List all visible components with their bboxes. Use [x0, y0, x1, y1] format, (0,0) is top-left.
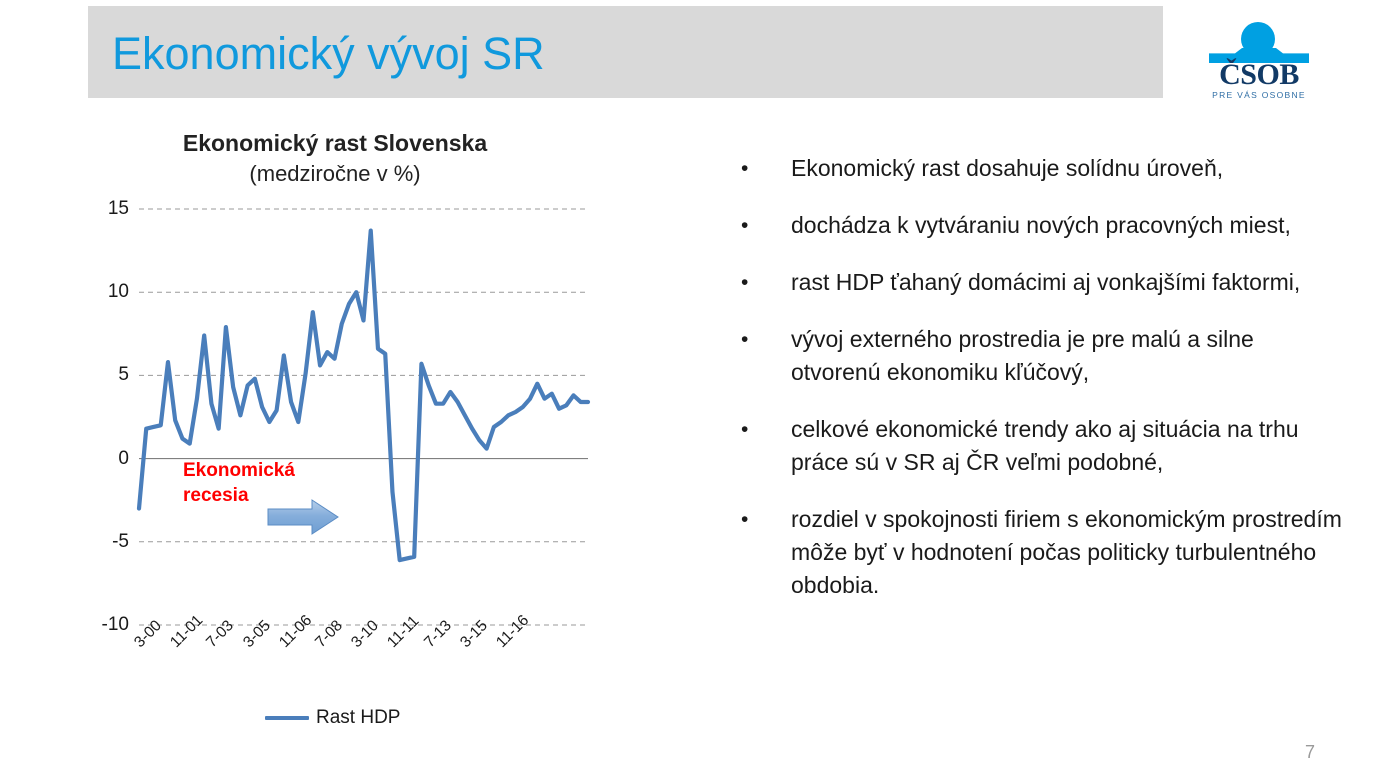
bullet-marker-icon: •	[737, 503, 791, 536]
csob-logo: ČSOB PRE VÁS OSOBNE	[1199, 22, 1319, 102]
bullet-text: dochádza k vytváraniu nových pracovných …	[791, 209, 1342, 242]
bullet-item: •dochádza k vytváraniu nových pracovných…	[737, 209, 1342, 242]
bullet-text: vývoj externého prostredia je pre malú a…	[791, 323, 1342, 389]
recession-annotation: Ekonomická recesia	[183, 458, 313, 508]
bullet-text: celkové ekonomické trendy ako aj situáci…	[791, 413, 1342, 479]
bullet-text: rozdiel v spokojnosti firiem s ekonomick…	[791, 503, 1342, 602]
slide: Ekonomický vývoj SR ČSOB PRE VÁS OSOBNE …	[0, 0, 1373, 775]
chart-legend: Rast HDP	[265, 708, 400, 727]
logo-tagline: PRE VÁS OSOBNE	[1203, 90, 1315, 100]
legend-swatch-rast-hdp	[265, 716, 309, 720]
y-tick--10: -10	[87, 615, 129, 634]
bullet-marker-icon: •	[737, 266, 791, 299]
y-tick-0: 0	[87, 449, 129, 468]
y-tick-10: 10	[87, 282, 129, 301]
bullet-item: •celkové ekonomické trendy ako aj situác…	[737, 413, 1342, 479]
bullet-item: •rozdiel v spokojnosti firiem s ekonomic…	[737, 503, 1342, 602]
legend-label-rast-hdp: Rast HDP	[316, 708, 400, 727]
bullet-marker-icon: •	[737, 323, 791, 356]
bullet-text: Ekonomický rast dosahuje solídnu úroveň,	[791, 152, 1342, 185]
y-tick--5: -5	[87, 532, 129, 551]
bullet-text: rast HDP ťahaný domácimi aj vonkajšími f…	[791, 266, 1342, 299]
y-tick-15: 15	[87, 199, 129, 218]
bullet-marker-icon: •	[737, 209, 791, 242]
bullet-marker-icon: •	[737, 413, 791, 446]
bullet-item: •Ekonomický rast dosahuje solídnu úroveň…	[737, 152, 1342, 185]
bullet-list: •Ekonomický rast dosahuje solídnu úroveň…	[737, 152, 1342, 626]
logo-wordmark: ČSOB	[1203, 60, 1315, 90]
gdp-growth-chart: Ekonomický rast Slovenska (medziročne v …	[70, 118, 670, 738]
chart-plot-area	[70, 118, 670, 678]
page-number: 7	[1305, 742, 1315, 763]
y-tick-5: 5	[87, 365, 129, 384]
chart-series-rast-hdp	[139, 231, 588, 560]
page-title: Ekonomický vývoj SR	[112, 26, 545, 82]
chart-gridlines	[139, 209, 588, 625]
bullet-item: •vývoj externého prostredia je pre malú …	[737, 323, 1342, 389]
bullet-marker-icon: •	[737, 152, 791, 185]
bullet-item: •rast HDP ťahaný domácimi aj vonkajšími …	[737, 266, 1342, 299]
